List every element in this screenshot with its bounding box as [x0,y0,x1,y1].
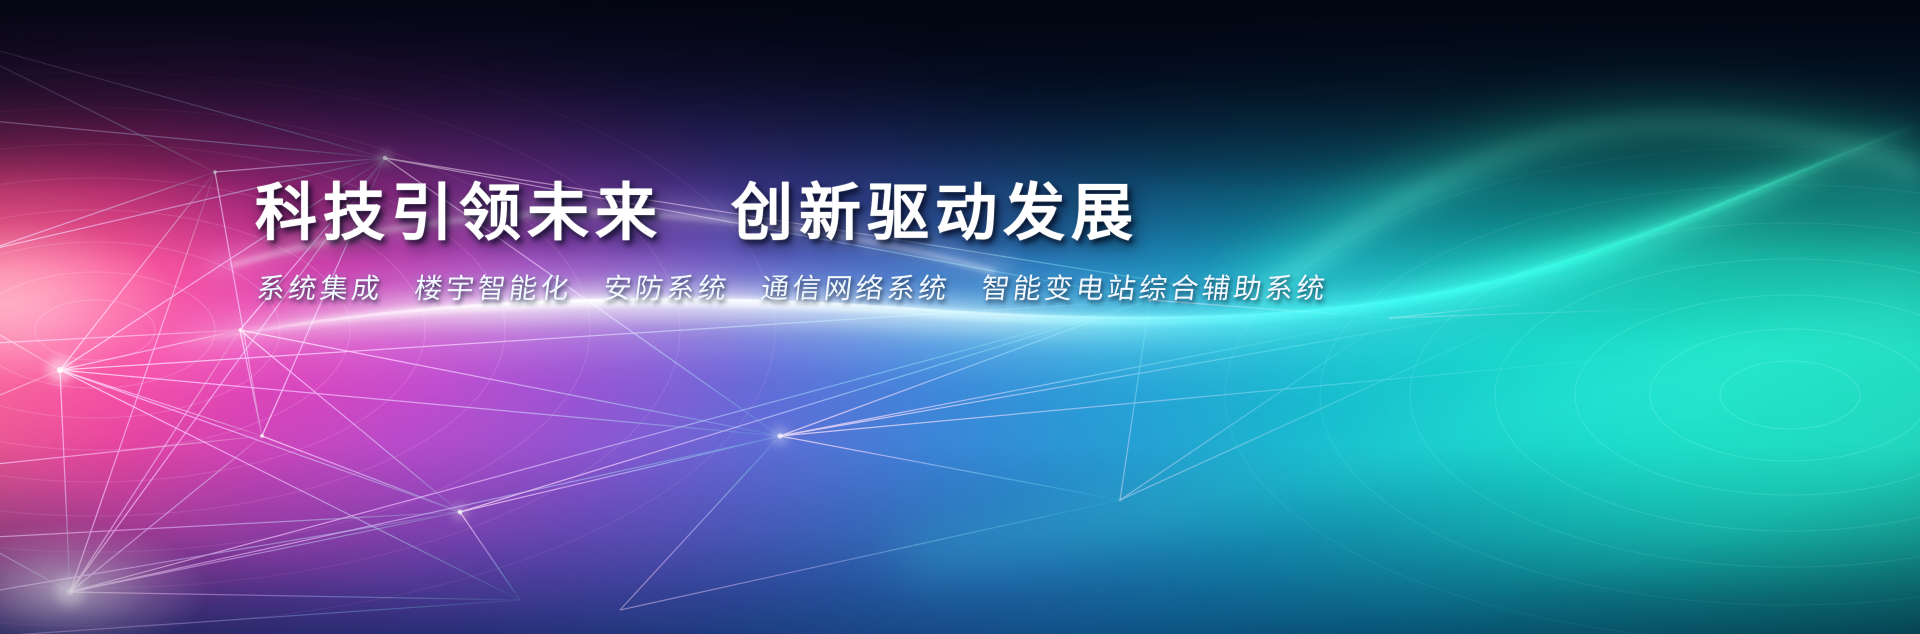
banner-text-block: 科技引领未来 创新驱动发展 系统集成 楼宇智能化 安防系统 通信网络系统 智能变… [255,178,1575,306]
banner-subtitle: 系统集成 楼宇智能化 安防系统 通信网络系统 智能变电站综合辅助系统 [255,272,1577,306]
background-gradient [0,0,1920,634]
tech-banner: 科技引领未来 创新驱动发展 系统集成 楼宇智能化 安防系统 通信网络系统 智能变… [0,0,1920,634]
polygonal-network-mesh [0,0,1920,634]
right-green-glow [0,0,1920,634]
halftone-dot-wave-surface [0,0,1920,634]
flowing-light-ribbon [0,0,1920,634]
vignette [0,0,1920,634]
banner-headline: 科技引领未来 创新驱动发展 [255,178,1575,250]
ripple-rings-texture [0,0,1920,634]
top-shade [0,0,1920,634]
left-core-glow [0,0,1920,634]
